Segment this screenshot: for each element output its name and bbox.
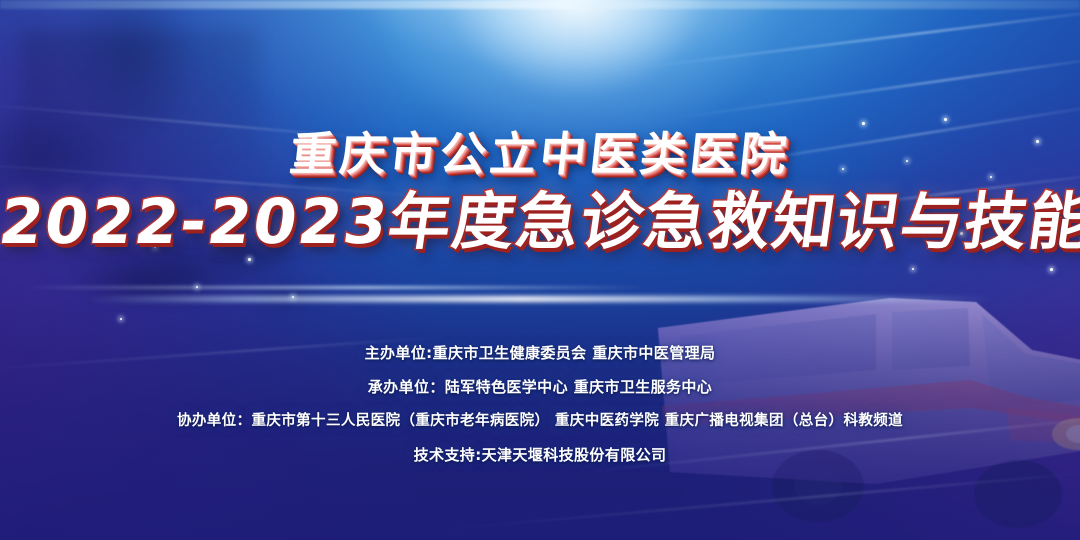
credit-organizer: 主办单位:重庆市卫生健康委员会 重庆市中医管理局: [0, 336, 1080, 370]
light-beam-icon: [86, 296, 993, 302]
credit-co-organizer: 协办单位：重庆市第十三人民医院（重庆市老年病医院） 重庆中医药学院 重庆广播电视…: [0, 404, 1080, 438]
credit-tech-support: 技术支持:天津天堰科技股份有限公司: [0, 438, 1080, 472]
top-light-band: [0, 0, 1080, 9]
credit-host: 承办单位：陆军特色医学中心 重庆市卫生服务中心: [0, 370, 1080, 404]
poster-credits-block: 主办单位:重庆市卫生健康委员会 重庆市中医管理局 承办单位：陆军特色医学中心 重…: [0, 336, 1080, 472]
poster-title-block: 重庆市公立中医类医院 2022-2023年度急诊急救知识与技能竞赛: [0, 128, 1080, 257]
poster-title-line-2: 2022-2023年度急诊急救知识与技能竞赛: [0, 187, 1080, 256]
poster-canvas: 重庆市公立中医类医院 2022-2023年度急诊急救知识与技能竞赛 主办单位:重…: [0, 0, 1080, 540]
poster-title-line-1: 重庆市公立中医类医院: [0, 128, 1080, 181]
light-beam-secondary: [22, 286, 648, 289]
